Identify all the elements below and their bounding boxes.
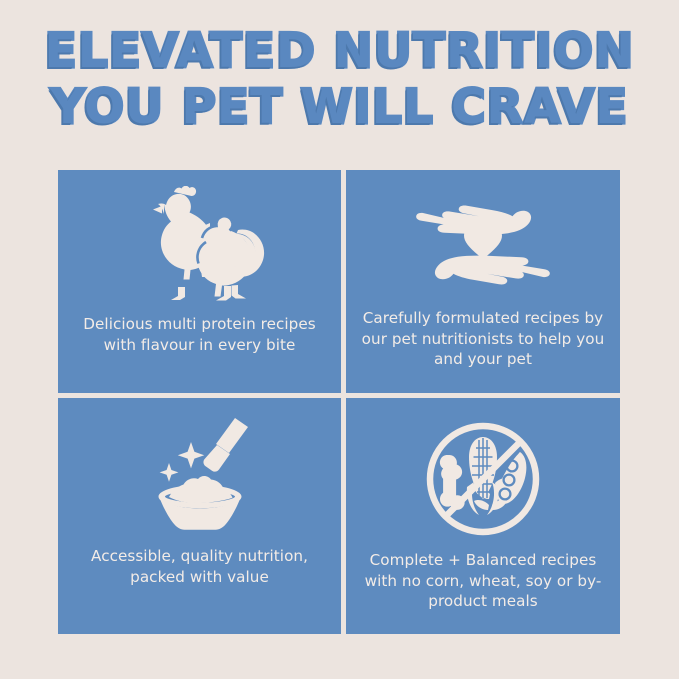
page-title-line-2: YOU PET WILL CRAVE	[0, 84, 679, 131]
feature-card-multi-protein: Delicious multi protein recipes with fla…	[58, 170, 341, 393]
hands-holding-heart-icon	[346, 192, 620, 298]
feature-grid: Delicious multi protein recipes with fla…	[58, 170, 620, 634]
page-title: ELEVATED NUTRITION YOU PET WILL CRAVE	[0, 28, 679, 131]
feature-text: Delicious multi protein recipes with fla…	[58, 314, 341, 355]
chicken-turkey-icon	[58, 186, 341, 306]
page-title-line-1: ELEVATED NUTRITION	[0, 28, 679, 75]
feature-card-no-fillers: Complete + Balanced recipes with no corn…	[346, 398, 620, 634]
feature-text: Accessible, quality nutrition, packed wi…	[58, 546, 341, 587]
promo-poster: ELEVATED NUTRITION YOU PET WILL CRAVE	[0, 0, 679, 679]
feature-card-formulated: Carefully formulated recipes by our pet …	[346, 170, 620, 393]
feature-card-value: Accessible, quality nutrition, packed wi…	[58, 398, 341, 634]
food-bowl-scoop-sparkle-icon	[58, 418, 341, 534]
feature-text: Complete + Balanced recipes with no corn…	[346, 550, 620, 612]
no-corn-wheat-soy-icon	[346, 420, 620, 538]
feature-text: Carefully formulated recipes by our pet …	[346, 308, 620, 370]
